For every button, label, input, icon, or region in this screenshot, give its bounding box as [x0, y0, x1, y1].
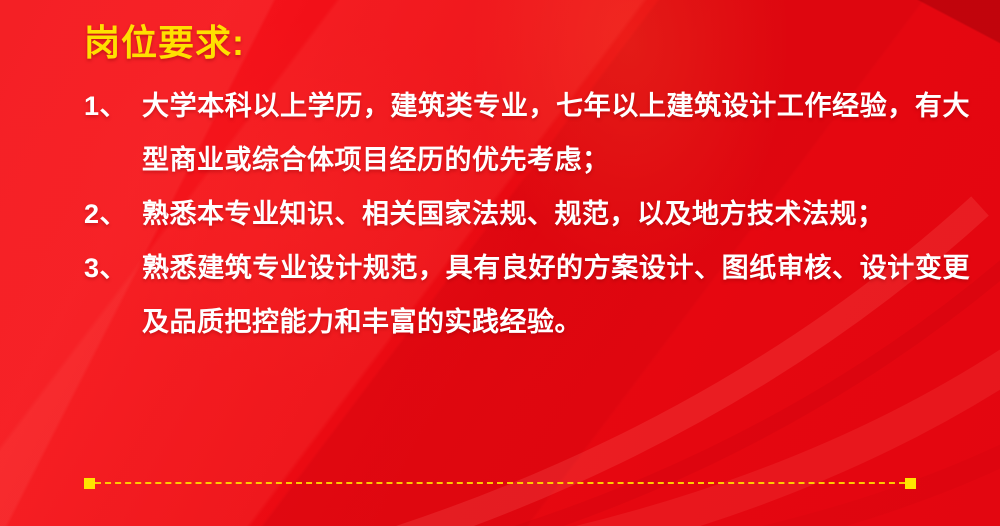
divider-dashed-line [95, 482, 905, 484]
list-item-marker: 2、 [84, 187, 142, 241]
list-item-text: 大学本科以上学历，建筑类专业，七年以上建筑设计工作经验，有大型商业或综合体项目经… [142, 79, 970, 187]
list-item-text: 熟悉本专业知识、相关国家法规、规范，以及地方技术法规； [142, 187, 970, 241]
requirements-list: 1、 大学本科以上学历，建筑类专业，七年以上建筑设计工作经验，有大型商业或综合体… [0, 79, 1000, 349]
list-item: 2、 熟悉本专业知识、相关国家法规、规范，以及地方技术法规； [0, 187, 1000, 241]
recruitment-poster: 岗位要求: 1、 大学本科以上学历，建筑类专业，七年以上建筑设计工作经验，有大型… [0, 0, 1000, 526]
bottom-divider [84, 476, 916, 490]
list-item: 3、 熟悉建筑专业设计规范，具有良好的方案设计、图纸审核、设计变更及品质把控能力… [0, 241, 1000, 349]
divider-cap-right [905, 478, 916, 489]
list-item-marker: 3、 [84, 241, 142, 295]
divider-cap-left [84, 478, 95, 489]
list-item-text: 熟悉建筑专业设计规范，具有良好的方案设计、图纸审核、设计变更及品质把控能力和丰富… [142, 241, 970, 349]
list-item: 1、 大学本科以上学历，建筑类专业，七年以上建筑设计工作经验，有大型商业或综合体… [0, 79, 1000, 187]
page-title: 岗位要求: [0, 20, 1000, 65]
list-item-marker: 1、 [84, 79, 142, 133]
poster-content: 岗位要求: 1、 大学本科以上学历，建筑类专业，七年以上建筑设计工作经验，有大型… [0, 0, 1000, 349]
